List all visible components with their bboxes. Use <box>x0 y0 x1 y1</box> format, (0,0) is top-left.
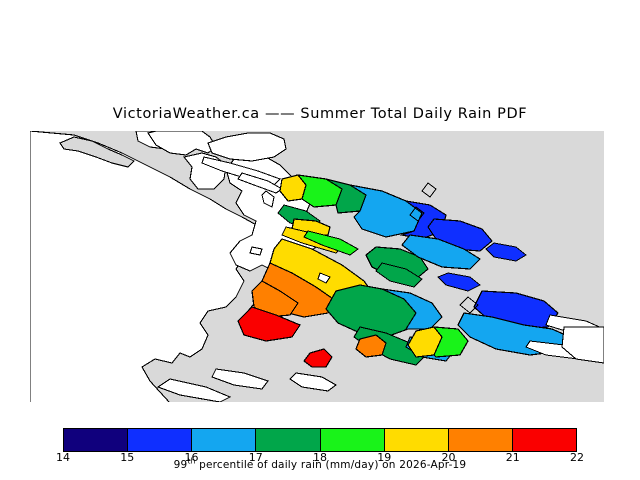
colorbar-band-19-20 <box>385 429 449 451</box>
colorbar-band-16-17 <box>192 429 256 451</box>
colorbar-band-14-15 <box>64 429 128 451</box>
colorbar-band-21-22 <box>513 429 576 451</box>
colorbar-band-15-16 <box>128 429 192 451</box>
colorbar-band-18-19 <box>321 429 385 451</box>
page-title: VictoriaWeather.ca —— Summer Total Daily… <box>0 106 640 122</box>
landmass-islet-2 <box>250 247 262 255</box>
colorbar-band-17-18 <box>256 429 320 451</box>
caption-description: percentile of daily rain (mm/day) on 202… <box>196 459 467 471</box>
caption-ordinal-suffix: th <box>187 457 195 466</box>
colorbar-bands <box>63 428 577 452</box>
colorbar[interactable] <box>63 428 577 452</box>
map-canvas[interactable] <box>30 131 604 402</box>
colorbar-band-20-21 <box>449 429 513 451</box>
weather-map-figure: VictoriaWeather.ca —— Summer Total Daily… <box>0 0 640 480</box>
colorbar-caption: 99th percentile of daily rain (mm/day) o… <box>0 459 640 471</box>
caption-percentile-number: 99 <box>174 459 188 471</box>
